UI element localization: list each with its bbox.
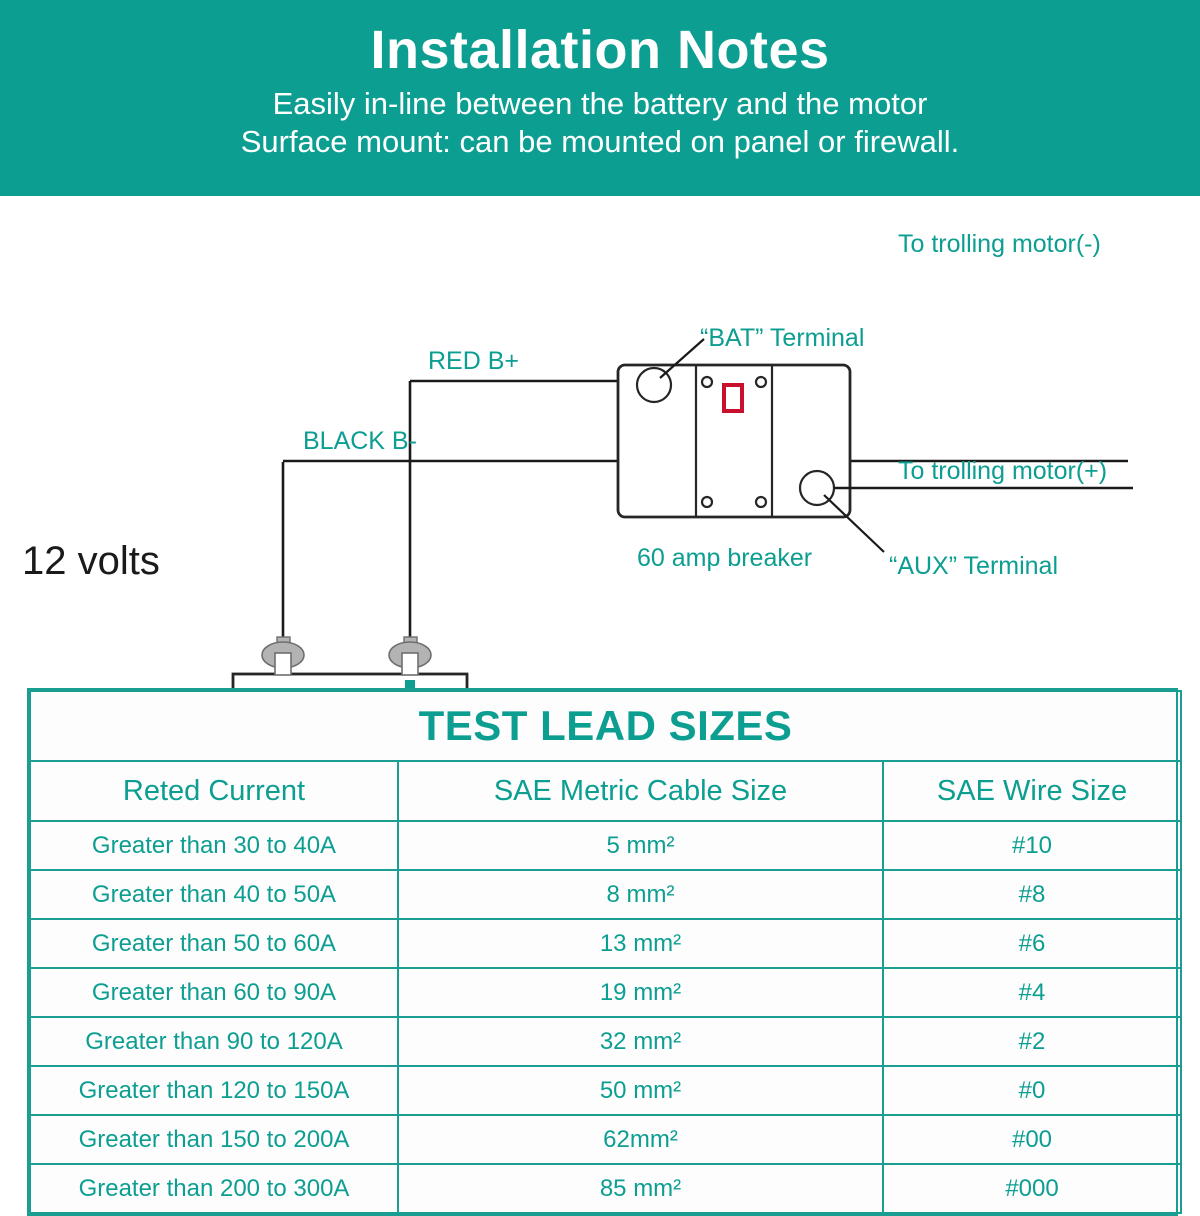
column-header-rated-current: Reted Current [30, 761, 398, 821]
page-header: Installation Notes Easily in-line betwee… [0, 0, 1200, 196]
cell-wire: #6 [883, 919, 1181, 968]
test-lead-sizes-table: TEST LEAD SIZES Reted Current SAE Metric… [29, 690, 1182, 1214]
cell-metric: 62mm² [398, 1115, 883, 1164]
bat-terminal-label: “BAT” Terminal [700, 324, 864, 352]
column-header-wire-size: SAE Wire Size [883, 761, 1181, 821]
header-subtitle-line-1: Easily in-line between the battery and t… [273, 85, 928, 123]
table-row: Greater than 150 to 200A 62mm² #00 [30, 1115, 1181, 1164]
black-wire-label: BLACK B- [303, 427, 417, 455]
cell-metric: 50 mm² [398, 1066, 883, 1115]
aux-terminal-label: “AUX” Terminal [889, 552, 1058, 580]
red-wire-label: RED B+ [428, 347, 519, 375]
cell-current: Greater than 30 to 40A [30, 821, 398, 870]
cell-wire: #4 [883, 968, 1181, 1017]
motor-negative-label: To trolling motor(-) [898, 230, 1101, 258]
cell-current: Greater than 150 to 200A [30, 1115, 398, 1164]
cell-wire: #2 [883, 1017, 1181, 1066]
column-header-metric-cable-size: SAE Metric Cable Size [398, 761, 883, 821]
table-header-row: Reted Current SAE Metric Cable Size SAE … [30, 761, 1181, 821]
cell-wire: #0 [883, 1066, 1181, 1115]
cell-wire: #10 [883, 821, 1181, 870]
cell-metric: 32 mm² [398, 1017, 883, 1066]
cell-current: Greater than 40 to 50A [30, 870, 398, 919]
wiring-diagram: BLACK B- RED B+ To trolling motor(-) To … [0, 196, 1200, 688]
cell-metric: 5 mm² [398, 821, 883, 870]
table-row: Greater than 120 to 150A 50 mm² #0 [30, 1066, 1181, 1115]
cell-wire: #000 [883, 1164, 1181, 1213]
table-row: Greater than 30 to 40A 5 mm² #10 [30, 821, 1181, 870]
battery-body [233, 674, 467, 688]
battery-voltage-label: 12 volts [22, 539, 160, 583]
table-title: TEST LEAD SIZES [30, 691, 1181, 761]
cell-wire: #8 [883, 870, 1181, 919]
table-row: Greater than 200 to 300A 85 mm² #000 [30, 1164, 1181, 1213]
cell-metric: 8 mm² [398, 870, 883, 919]
table-row: Greater than 40 to 50A 8 mm² #8 [30, 870, 1181, 919]
table-row: Greater than 90 to 120A 32 mm² #2 [30, 1017, 1181, 1066]
table-title-row: TEST LEAD SIZES [30, 691, 1181, 761]
aux-leader-line [824, 495, 884, 552]
cell-current: Greater than 200 to 300A [30, 1164, 398, 1213]
cell-current: Greater than 50 to 60A [30, 919, 398, 968]
cell-metric: 13 mm² [398, 919, 883, 968]
cell-metric: 85 mm² [398, 1164, 883, 1213]
cell-metric: 19 mm² [398, 968, 883, 1017]
battery-negative-terminal [262, 637, 304, 675]
page-title: Installation Notes [370, 22, 829, 79]
table-row: Greater than 50 to 60A 13 mm² #6 [30, 919, 1181, 968]
cell-current: Greater than 120 to 150A [30, 1066, 398, 1115]
breaker-reset-button[interactable] [724, 385, 742, 411]
breaker-label: 60 amp breaker [637, 544, 812, 572]
cell-wire: #00 [883, 1115, 1181, 1164]
cell-current: Greater than 90 to 120A [30, 1017, 398, 1066]
battery-positive-terminal [389, 637, 431, 675]
test-lead-sizes-table-container: TEST LEAD SIZES Reted Current SAE Metric… [27, 688, 1178, 1216]
header-subtitle-line-2: Surface mount: can be mounted on panel o… [241, 123, 960, 161]
table-row: Greater than 60 to 90A 19 mm² #4 [30, 968, 1181, 1017]
cell-current: Greater than 60 to 90A [30, 968, 398, 1017]
table-body: TEST LEAD SIZES Reted Current SAE Metric… [30, 691, 1181, 1213]
motor-positive-label: To trolling motor(+) [898, 457, 1107, 485]
